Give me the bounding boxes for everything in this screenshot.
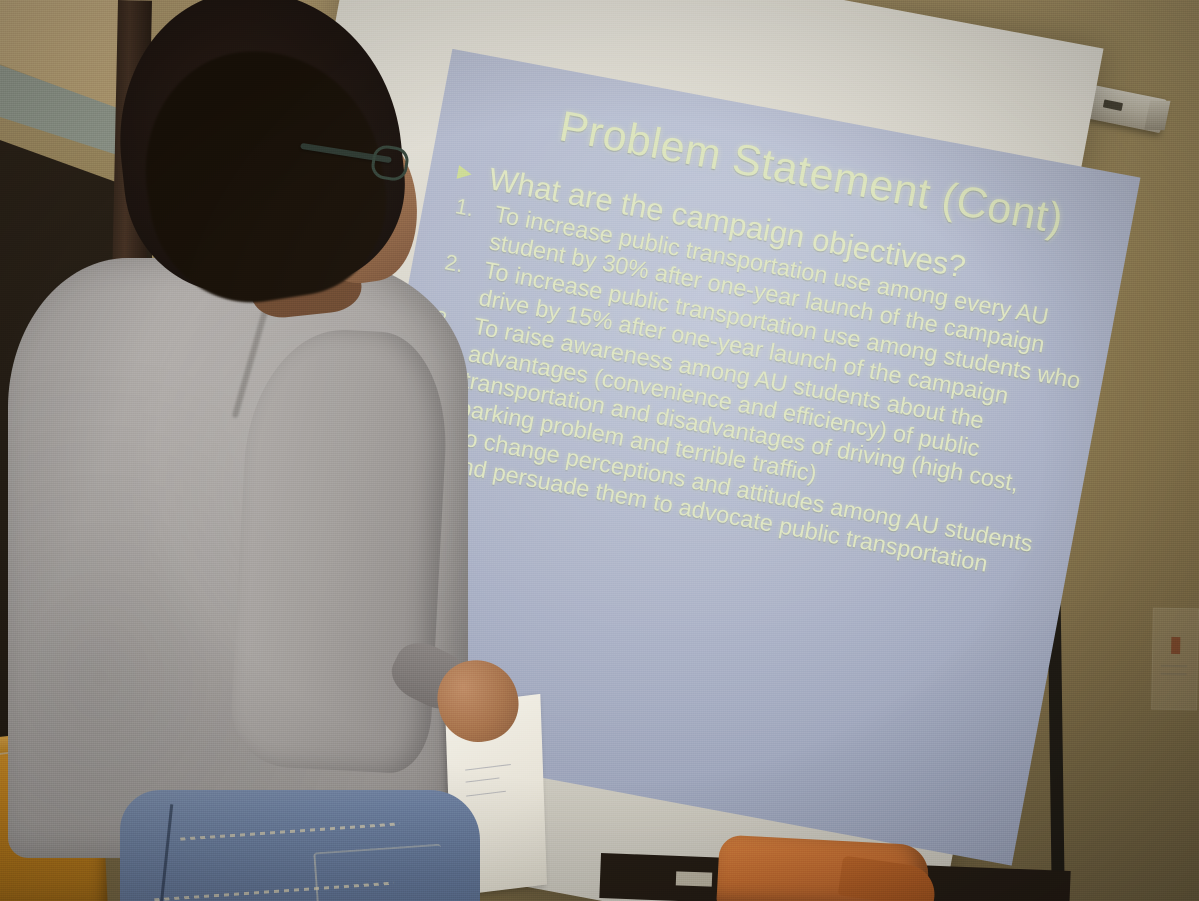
jeans xyxy=(120,790,480,901)
jeans-pocket xyxy=(313,844,447,901)
classroom-presentation-scene: Problem Statement (Cont) What are the ca… xyxy=(0,0,1199,901)
list-item-number: 1. xyxy=(453,194,476,223)
ledge-label xyxy=(676,871,712,886)
list-item-number: 2. xyxy=(443,250,466,279)
poster-line xyxy=(1161,665,1187,667)
paper-line xyxy=(465,764,511,771)
wall-poster xyxy=(1151,608,1199,711)
objectives-list: 1. To increase public transportation use… xyxy=(394,192,1100,591)
roller-slot xyxy=(1103,99,1123,111)
jeans-stitch xyxy=(180,822,400,840)
arrow-bullet-icon xyxy=(457,165,473,181)
poster-line xyxy=(1161,673,1187,675)
sweater-arm xyxy=(229,325,452,775)
paper-line xyxy=(466,791,506,797)
jeans-seam xyxy=(158,804,174,901)
paper-line xyxy=(466,777,500,782)
poster-mark xyxy=(1171,637,1180,654)
